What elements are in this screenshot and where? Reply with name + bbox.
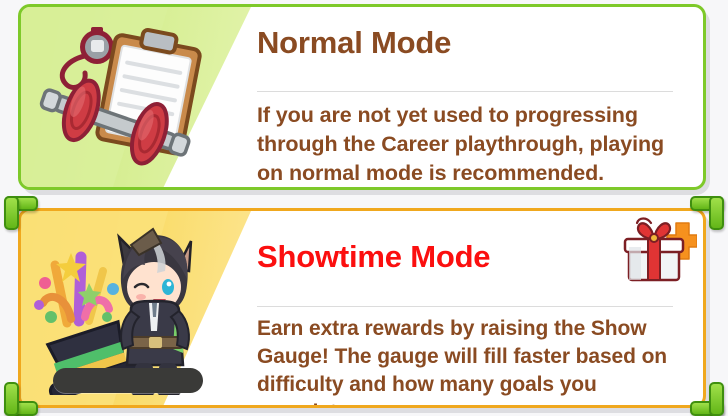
dumbbell-clipboard-stopwatch-icon: [27, 11, 207, 189]
normal-mode-title: Normal Mode: [257, 27, 451, 58]
showtime-mode-card[interactable]: Showtime Mode Earn extra rewards by rais…: [18, 208, 706, 408]
selection-bracket-bottom-left: [4, 382, 38, 416]
character-nameplate: [53, 368, 203, 393]
normal-mode-card[interactable]: Normal Mode If you are not yet used to p…: [18, 4, 706, 190]
showtime-mode-art-panel: [21, 211, 251, 405]
normal-mode-divider: [257, 91, 673, 92]
selection-bracket-top-right: [690, 196, 724, 230]
selection-bracket-top-left: [4, 196, 38, 230]
showtime-mode-title: Showtime Mode: [257, 241, 490, 272]
normal-mode-description: If you are not yet used to progressing t…: [257, 101, 681, 189]
showtime-mode-description: Earn extra rewards by raising the Show G…: [257, 315, 681, 408]
gift-box-plus-icon: [621, 217, 697, 287]
showtime-mode-text-column: Showtime Mode Earn extra rewards by rais…: [257, 211, 681, 405]
selection-bracket-bottom-right: [690, 382, 724, 416]
normal-mode-art-panel: [21, 7, 251, 187]
normal-mode-text-column: Normal Mode If you are not yet used to p…: [257, 7, 681, 187]
showtime-mode-divider: [257, 306, 673, 307]
